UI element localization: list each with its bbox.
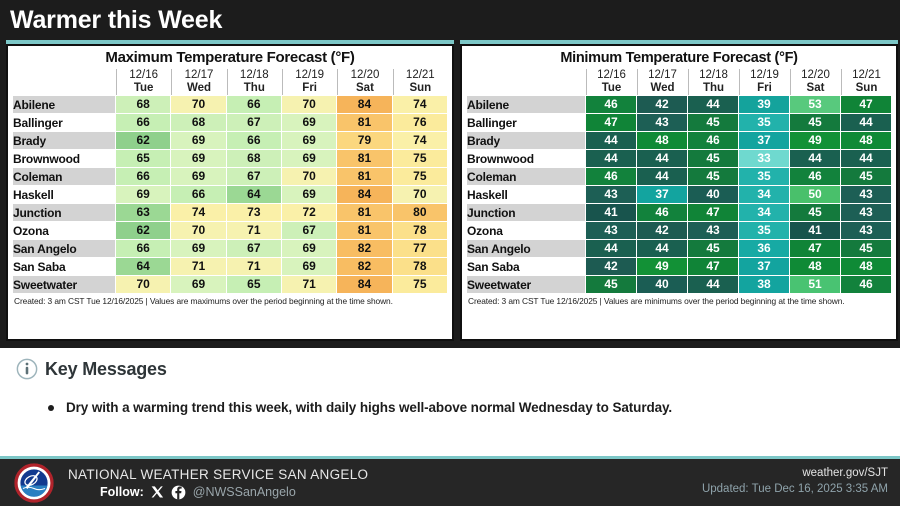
max-value-cell: 70 bbox=[282, 96, 336, 113]
table-row: Ozona434243354143 bbox=[467, 222, 891, 239]
max-value-cell: 64 bbox=[116, 258, 170, 275]
office-name: NATIONAL WEATHER SERVICE SAN ANGELO bbox=[68, 467, 368, 482]
min-value-cell: 51 bbox=[790, 276, 840, 293]
max-table-header-row: 12/16Tue12/17Wed12/18Thu12/19Fri12/20Sat… bbox=[13, 69, 447, 95]
max-column-dow: Sat bbox=[338, 82, 391, 95]
max-column-date: 12/16 bbox=[129, 69, 158, 81]
key-message-text: Dry with a warming trend this week, with… bbox=[66, 398, 672, 417]
min-column-header-wed: 12/17Wed bbox=[637, 69, 687, 95]
min-city-label: Haskell bbox=[467, 186, 585, 203]
min-value-cell: 43 bbox=[637, 114, 687, 131]
max-value-cell: 69 bbox=[171, 168, 225, 185]
social-handle[interactable]: @NWSSanAngelo bbox=[193, 485, 296, 499]
max-column-dow: Sun bbox=[394, 82, 447, 95]
facebook-icon[interactable] bbox=[171, 485, 186, 500]
max-value-cell: 77 bbox=[393, 240, 447, 257]
max-value-cell: 70 bbox=[171, 96, 225, 113]
min-value-cell: 33 bbox=[739, 150, 789, 167]
min-column-date: 12/20 bbox=[801, 69, 830, 81]
max-column-header-sun: 12/21Sun bbox=[393, 69, 447, 95]
max-column-date: 12/20 bbox=[351, 69, 380, 81]
max-value-cell: 67 bbox=[227, 114, 281, 131]
max-column-dow: Thu bbox=[228, 82, 281, 95]
max-value-cell: 84 bbox=[337, 276, 391, 293]
max-value-cell: 74 bbox=[393, 132, 447, 149]
max-value-cell: 65 bbox=[227, 276, 281, 293]
max-city-label: Ballinger bbox=[13, 114, 115, 131]
max-temperature-panel: Maximum Temperature Forecast (°F) 12/16T… bbox=[6, 44, 454, 341]
max-value-cell: 75 bbox=[393, 168, 447, 185]
max-table-corner-cell bbox=[13, 69, 115, 95]
max-value-cell: 65 bbox=[116, 150, 170, 167]
max-value-cell: 71 bbox=[282, 276, 336, 293]
x-twitter-icon[interactable] bbox=[150, 485, 165, 500]
max-value-cell: 66 bbox=[227, 132, 281, 149]
max-value-cell: 82 bbox=[337, 240, 391, 257]
min-city-label: Coleman bbox=[467, 168, 585, 185]
min-value-cell: 44 bbox=[586, 132, 636, 149]
table-row: Ozona627071678178 bbox=[13, 222, 447, 239]
min-value-cell: 44 bbox=[637, 150, 687, 167]
min-value-cell: 49 bbox=[790, 132, 840, 149]
max-column-date: 12/21 bbox=[406, 69, 435, 81]
min-value-cell: 45 bbox=[841, 168, 891, 185]
table-row: Ballinger666867698176 bbox=[13, 114, 447, 131]
min-column-header-fri: 12/19Fri bbox=[739, 69, 789, 95]
min-value-cell: 39 bbox=[739, 96, 789, 113]
max-value-cell: 66 bbox=[116, 114, 170, 131]
max-city-label: Sweetwater bbox=[13, 276, 115, 293]
max-value-cell: 71 bbox=[227, 258, 281, 275]
min-value-cell: 46 bbox=[841, 276, 891, 293]
max-value-cell: 66 bbox=[227, 96, 281, 113]
min-value-cell: 36 bbox=[739, 240, 789, 257]
max-value-cell: 81 bbox=[337, 150, 391, 167]
min-value-cell: 43 bbox=[841, 222, 891, 239]
min-value-cell: 38 bbox=[739, 276, 789, 293]
min-table-head: 12/16Tue12/17Wed12/18Thu12/19Fri12/20Sat… bbox=[467, 69, 891, 95]
forecast-tables-region: Maximum Temperature Forecast (°F) 12/16T… bbox=[0, 40, 900, 345]
max-value-cell: 69 bbox=[282, 240, 336, 257]
table-row: Coleman666967708175 bbox=[13, 168, 447, 185]
table-row: Brady626966697974 bbox=[13, 132, 447, 149]
key-message-item: Dry with a warming trend this week, with… bbox=[48, 398, 900, 417]
max-value-cell: 62 bbox=[116, 132, 170, 149]
table-row: San Angelo444445364745 bbox=[467, 240, 891, 257]
table-row: Haskell696664698470 bbox=[13, 186, 447, 203]
min-value-cell: 48 bbox=[841, 132, 891, 149]
table-row: San Saba647171698278 bbox=[13, 258, 447, 275]
table-row: Sweetwater706965718475 bbox=[13, 276, 447, 293]
min-column-dow: Sat bbox=[791, 82, 840, 95]
min-city-label: San Angelo bbox=[467, 240, 585, 257]
min-city-label: Ozona bbox=[467, 222, 585, 239]
min-column-header-sat: 12/20Sat bbox=[790, 69, 840, 95]
info-circle-icon bbox=[16, 358, 38, 380]
max-value-cell: 71 bbox=[171, 258, 225, 275]
max-value-cell: 69 bbox=[282, 150, 336, 167]
max-value-cell: 67 bbox=[282, 222, 336, 239]
min-value-cell: 45 bbox=[688, 150, 738, 167]
min-column-header-thu: 12/18Thu bbox=[688, 69, 738, 95]
min-column-dow: Fri bbox=[740, 82, 789, 95]
max-value-cell: 68 bbox=[227, 150, 281, 167]
max-value-cell: 67 bbox=[227, 240, 281, 257]
follow-row: Follow: @NWSSanAngelo bbox=[68, 485, 368, 500]
min-column-date: 12/16 bbox=[597, 69, 626, 81]
table-row: Ballinger474345354544 bbox=[467, 114, 891, 131]
table-row: Abilene687066708474 bbox=[13, 96, 447, 113]
max-table-title: Maximum Temperature Forecast (°F) bbox=[12, 49, 448, 68]
table-row: Haskell433740345043 bbox=[467, 186, 891, 203]
max-value-cell: 70 bbox=[171, 222, 225, 239]
max-city-label: Brownwood bbox=[13, 150, 115, 167]
max-column-date: 12/19 bbox=[295, 69, 324, 81]
min-value-cell: 48 bbox=[841, 258, 891, 275]
min-column-date: 12/18 bbox=[699, 69, 728, 81]
min-value-cell: 44 bbox=[586, 150, 636, 167]
max-value-cell: 69 bbox=[171, 132, 225, 149]
max-column-header-tue: 12/16Tue bbox=[116, 69, 170, 95]
min-value-cell: 42 bbox=[637, 96, 687, 113]
max-temperature-table: 12/16Tue12/17Wed12/18Thu12/19Fri12/20Sat… bbox=[12, 68, 448, 294]
max-value-cell: 69 bbox=[171, 240, 225, 257]
max-value-cell: 76 bbox=[393, 114, 447, 131]
min-column-date: 12/19 bbox=[750, 69, 779, 81]
min-city-label: Abilene bbox=[467, 96, 585, 113]
max-value-cell: 78 bbox=[393, 222, 447, 239]
max-value-cell: 63 bbox=[116, 204, 170, 221]
max-value-cell: 66 bbox=[171, 186, 225, 203]
max-value-cell: 78 bbox=[393, 258, 447, 275]
max-value-cell: 64 bbox=[227, 186, 281, 203]
max-city-label: Abilene bbox=[13, 96, 115, 113]
min-value-cell: 47 bbox=[688, 204, 738, 221]
max-column-dow: Tue bbox=[117, 82, 170, 95]
min-value-cell: 47 bbox=[841, 96, 891, 113]
min-value-cell: 45 bbox=[586, 276, 636, 293]
min-value-cell: 44 bbox=[841, 114, 891, 131]
max-value-cell: 73 bbox=[227, 204, 281, 221]
max-value-cell: 80 bbox=[393, 204, 447, 221]
max-value-cell: 69 bbox=[171, 150, 225, 167]
min-value-cell: 44 bbox=[688, 276, 738, 293]
updated-timestamp: Updated: Tue Dec 16, 2025 3:35 AM bbox=[702, 481, 888, 497]
min-value-cell: 44 bbox=[841, 150, 891, 167]
min-value-cell: 43 bbox=[688, 222, 738, 239]
min-city-label: San Saba bbox=[467, 258, 585, 275]
min-value-cell: 43 bbox=[586, 222, 636, 239]
min-table-header-row: 12/16Tue12/17Wed12/18Thu12/19Fri12/20Sat… bbox=[467, 69, 891, 95]
table-row: San Angelo666967698277 bbox=[13, 240, 447, 257]
min-table-body: Abilene464244395347Ballinger474345354544… bbox=[467, 96, 891, 293]
key-messages-title: Key Messages bbox=[45, 359, 167, 380]
max-value-cell: 69 bbox=[171, 276, 225, 293]
key-messages-header: Key Messages bbox=[0, 348, 900, 380]
table-row: Coleman464445354645 bbox=[467, 168, 891, 185]
min-value-cell: 48 bbox=[637, 132, 687, 149]
min-value-cell: 34 bbox=[739, 204, 789, 221]
footer-right-block: weather.gov/SJT Updated: Tue Dec 16, 202… bbox=[702, 465, 888, 497]
max-city-label: Brady bbox=[13, 132, 115, 149]
min-value-cell: 45 bbox=[688, 240, 738, 257]
key-messages-panel: Key Messages Dry with a warming trend th… bbox=[0, 348, 900, 456]
min-city-label: Sweetwater bbox=[467, 276, 585, 293]
min-value-cell: 49 bbox=[637, 258, 687, 275]
min-value-cell: 34 bbox=[739, 186, 789, 203]
max-column-header-thu: 12/18Thu bbox=[227, 69, 281, 95]
min-value-cell: 35 bbox=[739, 114, 789, 131]
min-column-dow: Thu bbox=[689, 82, 738, 95]
min-value-cell: 46 bbox=[790, 168, 840, 185]
min-value-cell: 44 bbox=[586, 240, 636, 257]
max-value-cell: 84 bbox=[337, 186, 391, 203]
min-value-cell: 44 bbox=[637, 168, 687, 185]
max-city-label: Coleman bbox=[13, 168, 115, 185]
min-value-cell: 47 bbox=[688, 258, 738, 275]
min-value-cell: 35 bbox=[739, 222, 789, 239]
min-value-cell: 44 bbox=[688, 96, 738, 113]
title-bar: Warmer this Week bbox=[0, 0, 900, 40]
max-column-header-wed: 12/17Wed bbox=[171, 69, 225, 95]
min-value-cell: 45 bbox=[688, 114, 738, 131]
min-value-cell: 45 bbox=[790, 204, 840, 221]
min-column-date: 12/17 bbox=[648, 69, 677, 81]
max-city-label: San Angelo bbox=[13, 240, 115, 257]
min-value-cell: 37 bbox=[637, 186, 687, 203]
max-value-cell: 69 bbox=[282, 132, 336, 149]
max-value-cell: 69 bbox=[282, 258, 336, 275]
min-value-cell: 42 bbox=[586, 258, 636, 275]
min-city-label: Ballinger bbox=[467, 114, 585, 131]
min-value-cell: 53 bbox=[790, 96, 840, 113]
table-row: Brownwood444445334444 bbox=[467, 150, 891, 167]
min-temperature-table: 12/16Tue12/17Wed12/18Thu12/19Fri12/20Sat… bbox=[466, 68, 892, 294]
max-city-label: San Saba bbox=[13, 258, 115, 275]
max-value-cell: 70 bbox=[282, 168, 336, 185]
min-value-cell: 40 bbox=[688, 186, 738, 203]
max-column-dow: Wed bbox=[172, 82, 225, 95]
max-value-cell: 84 bbox=[337, 96, 391, 113]
min-city-label: Brownwood bbox=[467, 150, 585, 167]
min-value-cell: 37 bbox=[739, 258, 789, 275]
min-table-title: Minimum Temperature Forecast (°F) bbox=[466, 49, 892, 68]
max-value-cell: 66 bbox=[116, 240, 170, 257]
max-column-date: 12/17 bbox=[185, 69, 214, 81]
max-value-cell: 81 bbox=[337, 114, 391, 131]
min-column-header-sun: 12/21Sun bbox=[841, 69, 891, 95]
min-value-cell: 45 bbox=[841, 240, 891, 257]
max-value-cell: 74 bbox=[393, 96, 447, 113]
max-table-footnote: Created: 3 am CST Tue 12/16/2025 | Value… bbox=[12, 294, 448, 308]
min-table-corner-cell bbox=[467, 69, 585, 95]
min-value-cell: 41 bbox=[586, 204, 636, 221]
max-value-cell: 68 bbox=[171, 114, 225, 131]
max-value-cell: 81 bbox=[337, 168, 391, 185]
max-table-body: Abilene687066708474Ballinger666867698176… bbox=[13, 96, 447, 293]
footer-content: NATIONAL WEATHER SERVICE SAN ANGELO Foll… bbox=[0, 459, 900, 506]
nws-logo-icon bbox=[14, 463, 54, 503]
follow-label: Follow: bbox=[100, 485, 144, 499]
min-value-cell: 44 bbox=[790, 150, 840, 167]
max-value-cell: 75 bbox=[393, 276, 447, 293]
table-row: Sweetwater454044385146 bbox=[467, 276, 891, 293]
min-column-dow: Wed bbox=[638, 82, 687, 95]
table-row: Junction637473728180 bbox=[13, 204, 447, 221]
max-value-cell: 69 bbox=[282, 114, 336, 131]
table-row: Junction414647344543 bbox=[467, 204, 891, 221]
min-column-dow: Tue bbox=[587, 82, 636, 95]
max-city-label: Junction bbox=[13, 204, 115, 221]
min-column-header-tue: 12/16Tue bbox=[586, 69, 636, 95]
min-value-cell: 43 bbox=[586, 186, 636, 203]
max-table-head: 12/16Tue12/17Wed12/18Thu12/19Fri12/20Sat… bbox=[13, 69, 447, 95]
min-table-footnote: Created: 3 am CST Tue 12/16/2025 | Value… bbox=[466, 294, 892, 308]
min-value-cell: 42 bbox=[637, 222, 687, 239]
max-column-date: 12/18 bbox=[240, 69, 269, 81]
max-value-cell: 74 bbox=[171, 204, 225, 221]
min-value-cell: 41 bbox=[790, 222, 840, 239]
min-value-cell: 50 bbox=[790, 186, 840, 203]
min-column-dow: Sun bbox=[842, 82, 891, 95]
min-value-cell: 45 bbox=[688, 168, 738, 185]
max-column-dow: Fri bbox=[283, 82, 336, 95]
min-value-cell: 46 bbox=[586, 96, 636, 113]
website-url[interactable]: weather.gov/SJT bbox=[702, 465, 888, 481]
max-value-cell: 72 bbox=[282, 204, 336, 221]
max-value-cell: 68 bbox=[116, 96, 170, 113]
max-value-cell: 69 bbox=[116, 186, 170, 203]
key-messages-list: Dry with a warming trend this week, with… bbox=[0, 380, 900, 417]
min-value-cell: 46 bbox=[637, 204, 687, 221]
max-value-cell: 67 bbox=[227, 168, 281, 185]
page-title: Warmer this Week bbox=[0, 6, 222, 35]
min-temperature-panel: Minimum Temperature Forecast (°F) 12/16T… bbox=[460, 44, 898, 341]
max-value-cell: 69 bbox=[282, 186, 336, 203]
min-city-label: Brady bbox=[467, 132, 585, 149]
min-value-cell: 45 bbox=[790, 114, 840, 131]
table-row: Brownwood656968698175 bbox=[13, 150, 447, 167]
max-value-cell: 71 bbox=[227, 222, 281, 239]
min-value-cell: 46 bbox=[688, 132, 738, 149]
table-row: San Saba424947374848 bbox=[467, 258, 891, 275]
min-value-cell: 37 bbox=[739, 132, 789, 149]
forecast-graphic: Warmer this Week Maximum Temperature For… bbox=[0, 0, 900, 506]
min-value-cell: 47 bbox=[790, 240, 840, 257]
max-value-cell: 79 bbox=[337, 132, 391, 149]
min-value-cell: 43 bbox=[841, 204, 891, 221]
table-row: Brady444846374948 bbox=[467, 132, 891, 149]
max-value-cell: 66 bbox=[116, 168, 170, 185]
max-value-cell: 82 bbox=[337, 258, 391, 275]
max-value-cell: 70 bbox=[393, 186, 447, 203]
footer-text-block: NATIONAL WEATHER SERVICE SAN ANGELO Foll… bbox=[68, 466, 368, 500]
max-value-cell: 81 bbox=[337, 222, 391, 239]
max-city-label: Ozona bbox=[13, 222, 115, 239]
min-value-cell: 44 bbox=[637, 240, 687, 257]
table-row: Abilene464244395347 bbox=[467, 96, 891, 113]
max-value-cell: 70 bbox=[116, 276, 170, 293]
min-value-cell: 35 bbox=[739, 168, 789, 185]
max-column-header-sat: 12/20Sat bbox=[337, 69, 391, 95]
min-column-date: 12/21 bbox=[852, 69, 881, 81]
footer-bar: NATIONAL WEATHER SERVICE SAN ANGELO Foll… bbox=[0, 456, 900, 506]
max-city-label: Haskell bbox=[13, 186, 115, 203]
min-value-cell: 40 bbox=[637, 276, 687, 293]
max-value-cell: 62 bbox=[116, 222, 170, 239]
max-value-cell: 75 bbox=[393, 150, 447, 167]
min-value-cell: 46 bbox=[586, 168, 636, 185]
min-value-cell: 43 bbox=[841, 186, 891, 203]
max-column-header-fri: 12/19Fri bbox=[282, 69, 336, 95]
bullet-dot-icon bbox=[48, 405, 54, 411]
min-value-cell: 47 bbox=[586, 114, 636, 131]
max-value-cell: 81 bbox=[337, 204, 391, 221]
min-value-cell: 48 bbox=[790, 258, 840, 275]
min-city-label: Junction bbox=[467, 204, 585, 221]
